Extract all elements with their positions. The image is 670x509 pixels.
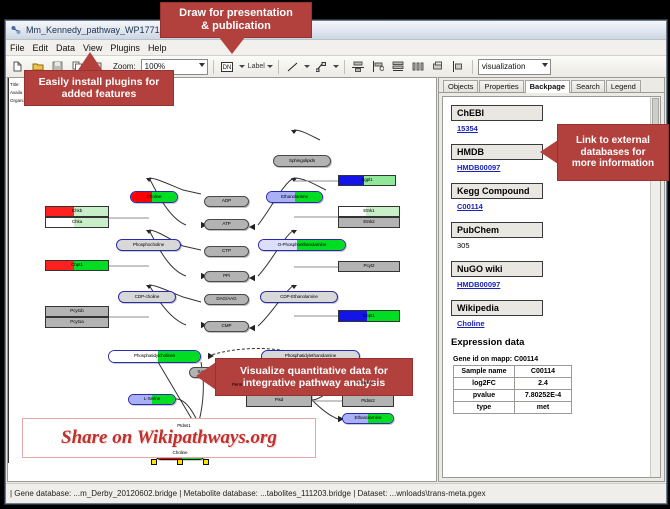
gene-sgpl1[interactable]: Sgpl1	[338, 175, 396, 186]
expression-table: Sample name C00114 log2FC 2.4 pvalue 7.8…	[453, 365, 572, 414]
gene-chka[interactable]: Chka	[45, 217, 109, 228]
gene-label: Pcyt1a	[70, 320, 83, 325]
datanode-icon[interactable]: DN	[219, 58, 236, 75]
callout-plugins-text: Easily install plugins for added feature…	[39, 76, 160, 100]
callout-visualize-arrow-icon	[196, 362, 216, 390]
tab-backpage[interactable]: Backpage	[525, 80, 570, 94]
svg-text:DN: DN	[223, 65, 232, 71]
gene-pcyt1b[interactable]: Pcyt1b	[45, 306, 109, 317]
node-cdp-choline[interactable]: CDP-choline	[118, 291, 176, 303]
group-icon[interactable]	[430, 58, 447, 75]
table-row: pvalue 7.80252E-4	[454, 390, 572, 402]
gene-label: Cept1	[363, 314, 375, 319]
datanode-dropdown[interactable]	[239, 65, 245, 68]
shape-dropdown[interactable]	[333, 65, 339, 68]
callout-plugins-arrow-icon	[78, 52, 102, 70]
node-label: Phosphatidylcholines	[134, 354, 175, 359]
arrowhead-down	[291, 178, 297, 182]
node-ethanolamine-top[interactable]: Ethanolamine	[266, 191, 323, 203]
node-ppi[interactable]: PPi	[204, 271, 249, 282]
tab-search[interactable]: Search	[571, 80, 605, 93]
toolbar-separator	[278, 60, 279, 74]
callout-draw-arrow-icon	[218, 36, 246, 54]
node-dag-aag[interactable]: DAG/AAG	[204, 294, 249, 305]
distribute-icon[interactable]	[410, 58, 427, 75]
canvas-available-label: Availa	[10, 89, 22, 97]
line-tool-icon[interactable]	[284, 58, 301, 75]
tab-properties[interactable]: Properties	[479, 80, 523, 93]
node-label: Ethanolamine	[281, 195, 308, 200]
selection-handle[interactable]	[177, 459, 183, 465]
callout-links: Link to external databases for more info…	[557, 124, 669, 181]
cell-key: type	[454, 402, 515, 414]
gene-id-on-mapp: Gene id on mapp: C00114	[453, 356, 645, 363]
statusbar-text: | Gene database: ...m_Derby_20120602.bri…	[6, 489, 486, 498]
node-o-phosphoethanolamine[interactable]: O-Phosphoethanolamine	[258, 239, 346, 251]
gene-pcyt1a[interactable]: Pcyt1a	[45, 317, 109, 328]
callout-plugins: Easily install plugins for added feature…	[24, 70, 174, 106]
node-phosphatidylcholines[interactable]: Phosphatidylcholines	[108, 350, 201, 363]
db-value-pubchem: 305	[457, 241, 645, 250]
node-label: L-Serine	[358, 381, 375, 386]
tab-legend[interactable]: Legend	[606, 80, 641, 93]
node-label: CDP-choline	[135, 295, 160, 300]
node-label: L-Serine	[144, 397, 161, 402]
db-header-pubchem: PubChem	[451, 222, 543, 238]
arrowhead-down	[146, 178, 152, 182]
node-label: Choline	[147, 195, 162, 200]
callout-links-arrow-icon	[540, 140, 558, 164]
node-label: Choline	[173, 451, 188, 456]
selection-handle[interactable]	[151, 459, 157, 465]
arrowhead-down	[146, 285, 152, 289]
gene-label: Pemt	[232, 383, 242, 388]
gene-label: Chpt1	[71, 263, 83, 268]
node-label: Phosphatidylethanolamine	[285, 354, 337, 359]
stack-icon[interactable]	[390, 58, 407, 75]
callout-links-text: Link to external databases for more info…	[572, 135, 654, 170]
node-cmp[interactable]: CMP	[204, 321, 249, 332]
db-header-nugo-wiki: NuGO wiki	[451, 261, 543, 277]
gene-cept1[interactable]: Cept1	[338, 310, 400, 322]
db-link-kegg[interactable]: C00114	[457, 202, 645, 211]
ethanolamine-backbone-line	[8, 283, 9, 463]
node-atp[interactable]: ATP	[204, 219, 249, 230]
gene-label: Ptdss1	[177, 424, 190, 429]
label-dropdown-text: Label	[248, 63, 265, 70]
node-adp[interactable]: ADP	[204, 196, 249, 207]
table-row: log2FC 2.4	[454, 378, 572, 390]
gene-label: Pcyt1b	[70, 309, 83, 314]
node-label: Sphingolipids	[289, 159, 315, 164]
cell-value: 2.4	[515, 378, 572, 390]
gene-label: Sgpl1	[361, 178, 372, 183]
node-label: ATP	[222, 222, 230, 227]
node-choline-top[interactable]: Choline	[130, 191, 178, 203]
screenshot-root: Mm_Kennedy_pathway_WP1771_45176.gpml Fil…	[0, 0, 670, 509]
arrowhead-down	[291, 130, 297, 134]
canvas-organism-label: Organi	[10, 97, 24, 105]
toolbar-separator	[472, 60, 473, 74]
gene-label: Chka	[72, 220, 82, 225]
node-cdp-ethanolamine[interactable]: CDP-Ethanolamine	[260, 291, 338, 303]
table-row: type met	[454, 402, 572, 414]
node-label: Ethanolamine	[355, 416, 382, 421]
cell-key: pvalue	[454, 390, 515, 402]
node-label: Phosphocholine	[133, 243, 164, 248]
expression-data-title: Expression data	[451, 337, 645, 348]
callout-visualize: Visualize quantitative data for integrat…	[215, 358, 413, 396]
gene-pcyt2[interactable]: Pcyt2	[338, 261, 400, 272]
menu-edit[interactable]: Edit	[33, 43, 49, 53]
cell-key: Sample name	[454, 366, 515, 378]
gene-label: Etnk1	[363, 209, 374, 214]
menu-plugins[interactable]: Plugins	[110, 43, 140, 53]
db-link-wikipedia[interactable]: Choline	[457, 319, 645, 328]
choline-backbone-line	[8, 78, 9, 283]
ungroup-icon[interactable]	[450, 58, 467, 75]
statusbar: | Gene database: ...m_Derby_20120602.bri…	[6, 483, 666, 503]
gene-label: Pisd	[275, 398, 284, 403]
node-l-serine-left[interactable]: L-Serine	[128, 394, 176, 405]
menubar: File Edit Data View Plugins Help	[6, 40, 666, 56]
cell-value: met	[515, 402, 572, 414]
node-ethanolamine-right[interactable]: Ethanolamine	[342, 413, 394, 424]
node-label: CMP	[222, 324, 232, 329]
gene-chkb[interactable]: Chkb	[45, 206, 109, 217]
share-banner-text: Share on Wikipathways.org	[61, 427, 277, 449]
fill-down	[46, 207, 74, 216]
align-center-icon[interactable]	[350, 58, 367, 75]
db-header-kegg: Kegg Compound	[451, 183, 543, 199]
chevron-down-icon	[542, 63, 548, 67]
arrowhead-down	[291, 230, 297, 234]
pathvisio-icon	[10, 24, 22, 36]
tab-objects[interactable]: Objects	[443, 80, 478, 93]
db-link-nugo-wiki[interactable]: HMDB00097	[457, 280, 645, 289]
chevron-down-icon	[199, 63, 205, 67]
chevron-down-icon	[333, 65, 339, 68]
line-dropdown[interactable]	[304, 65, 310, 68]
node-label: CDP-Ethanolamine	[280, 295, 318, 300]
menu-help[interactable]: Help	[148, 43, 167, 53]
callout-draw-text: Draw for presentation & publication	[179, 7, 293, 32]
gene-etnk2[interactable]: Etnk2	[338, 217, 400, 228]
fill-base	[46, 218, 74, 227]
node-phosphocholine[interactable]: Phosphocholine	[116, 239, 181, 251]
cell-value: 7.80252E-4	[515, 390, 572, 402]
shape-tool-icon[interactable]	[313, 58, 330, 75]
callout-draw: Draw for presentation & publication	[160, 2, 312, 38]
share-banner: Share on Wikipathways.org	[22, 418, 316, 458]
fill-down	[46, 261, 74, 270]
gene-label: Etnk2	[363, 220, 374, 225]
chevron-down-icon	[267, 65, 273, 68]
arrowhead-down	[291, 285, 297, 289]
menu-view[interactable]: View	[83, 43, 102, 53]
cell-value: C00114	[515, 366, 572, 378]
node-sphingolipids[interactable]: Sphingolipids	[273, 155, 331, 167]
label-dropdown[interactable]: Label	[248, 63, 273, 70]
db-header-chebi: ChEBI	[451, 105, 543, 121]
menu-data[interactable]: Data	[56, 43, 75, 53]
node-label: PPi	[223, 274, 230, 279]
node-label: ADP	[222, 199, 231, 204]
fill-base	[339, 207, 366, 216]
align-left-icon[interactable]	[370, 58, 387, 75]
db-header-hmdb: HMDB	[451, 144, 543, 160]
gene-label: Ptdss2	[361, 399, 374, 404]
db-header-wikipedia: Wikipedia	[451, 300, 543, 316]
canvas-title-label: Title:	[10, 81, 20, 89]
gene-label: Chkb	[72, 209, 82, 214]
window-titlebar: Mm_Kennedy_pathway_WP1771_45176.gpml	[6, 21, 666, 40]
chevron-down-icon	[304, 65, 310, 68]
node-ctp[interactable]: CTP	[204, 246, 249, 257]
cell-key: log2FC	[454, 378, 515, 390]
side-panel-tabs: Objects Properties Backpage Search Legen…	[439, 78, 664, 93]
visualization-combo[interactable]: visualization	[478, 59, 551, 75]
node-label: DAG/AAG	[216, 297, 236, 302]
chevron-down-icon	[239, 65, 245, 68]
gene-chpt1[interactable]: Chpt1	[45, 260, 109, 271]
visualization-value: visualization	[482, 62, 526, 71]
toolbar-separator	[213, 60, 214, 74]
arrowhead-down	[146, 230, 152, 234]
toolbar-separator	[344, 60, 345, 74]
menu-file[interactable]: File	[10, 43, 25, 53]
gene-label: Pcyt2	[364, 264, 375, 269]
node-label: O-Phosphoethanolamine	[278, 243, 327, 248]
node-label: CTP	[222, 249, 231, 254]
table-row: Sample name C00114	[454, 366, 572, 378]
gene-ptdss2[interactable]: Ptdss2	[342, 395, 394, 407]
gene-etnk1[interactable]: Etnk1	[338, 206, 400, 217]
selection-handle[interactable]	[203, 459, 209, 465]
